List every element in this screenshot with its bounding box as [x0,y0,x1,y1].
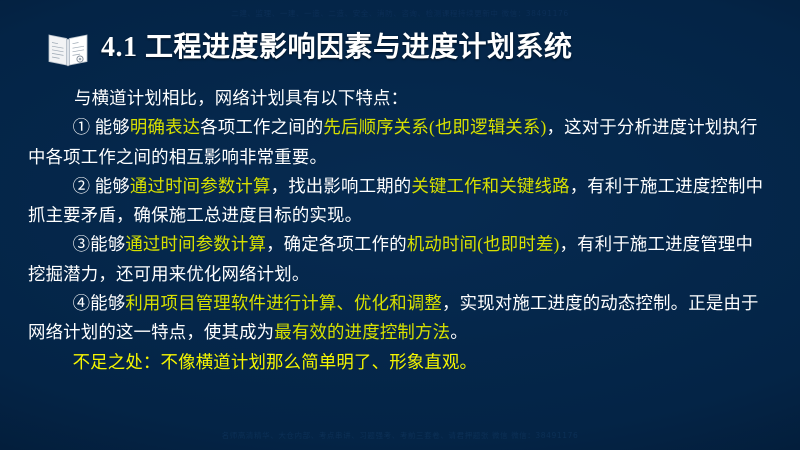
paragraph-4: ④能够利用项目管理软件进行计算、优化和调整，实现对施工进度的动态控制。正是由于网… [28,289,766,348]
p3-tail: ， [560,234,578,254]
p4-highlight-1: 利用项目管理软件进行计算、优化和调整 [125,293,442,313]
p4-highlight-2: 最有效的进 [274,322,362,342]
p2-highlight-2: 关键工作和关键线路 [411,176,569,196]
p3-highlight-3: (也即时差) [477,234,559,254]
slide-body: 与横道计划相比，网络计划具有以下特点： ① 能够明确表达各项工作之间的先后顺序关… [0,84,800,377]
watermark-top: 二建、监理、一建、一造、二造、安全、消防、咨询、检测课程持续更新中 微信：384… [0,8,800,19]
p2-highlight-1: 通过时间参数计算 [130,176,271,196]
paragraph-2: ② 能够通过时间参数计算，找出影响工期的关键工作和关键线路，有利于施工进度控制中… [28,172,766,231]
open-book-icon [46,26,90,70]
p4-line3-highlight: 度控制方法 [362,322,450,342]
slide-canvas: 二建、监理、一建、一造、二造、安全、消防、咨询、检测课程持续更新中 微信：384… [0,0,800,450]
p1-lead: ① 能够 [73,117,130,137]
p2-tail: ， [570,176,588,196]
p1-highlight-1: 明确表达 [130,117,200,137]
paragraph-intro: 与横道计划相比，网络计划具有以下特点： [28,84,766,113]
slide-title-row: 4.1 工程进度影响因素与进度计划系统 [46,22,573,74]
paragraph-1: ① 能够明确表达各项工作之间的先后顺序关系(也即逻辑关系)，这对于分析进度计划执… [28,113,766,172]
page-title: 4.1 工程进度影响因素与进度计划系统 [101,34,573,62]
p4-lead: ④能够 [73,293,126,313]
p3-lead: ③能够 [73,234,126,254]
p2-mid-1: ，找出影响工期的 [271,176,412,196]
watermark-bottom: 名师高清精华、大仓内部、考点串讲、习题强考、考前三套卷、请君押题张 微信 微信：… [0,430,800,441]
p3-highlight-1: 通过时间参数计算 [125,234,266,254]
p2-lead: ② 能够 [73,176,130,196]
p1-highlight-3: (也即逻辑关系) [429,117,547,137]
p4-mid-1: ，实现对施工进 [442,293,565,313]
p1-mid-1: 各项工作之间的 [200,117,323,137]
p1-tail: ， [546,117,564,137]
p5-text: 不足之处：不像横道计划那么简单明了、形象直观。 [73,352,478,372]
p4-line3-tail: 。 [450,322,468,342]
paragraph-5: 不足之处：不像横道计划那么简单明了、形象直观。 [28,348,766,377]
p3-highlight-2: 机动时间 [407,234,477,254]
p3-mid-1: ，确定各项工作的 [266,234,407,254]
p1-highlight-2: 先后顺序关系 [323,117,429,137]
intro-text: 与横道计划相比，网络计划具有以下特点： [74,88,408,108]
paragraph-3: ③能够通过时间参数计算，确定各项工作的机动时间(也即时差)，有利于施工进度管理中… [28,230,766,289]
